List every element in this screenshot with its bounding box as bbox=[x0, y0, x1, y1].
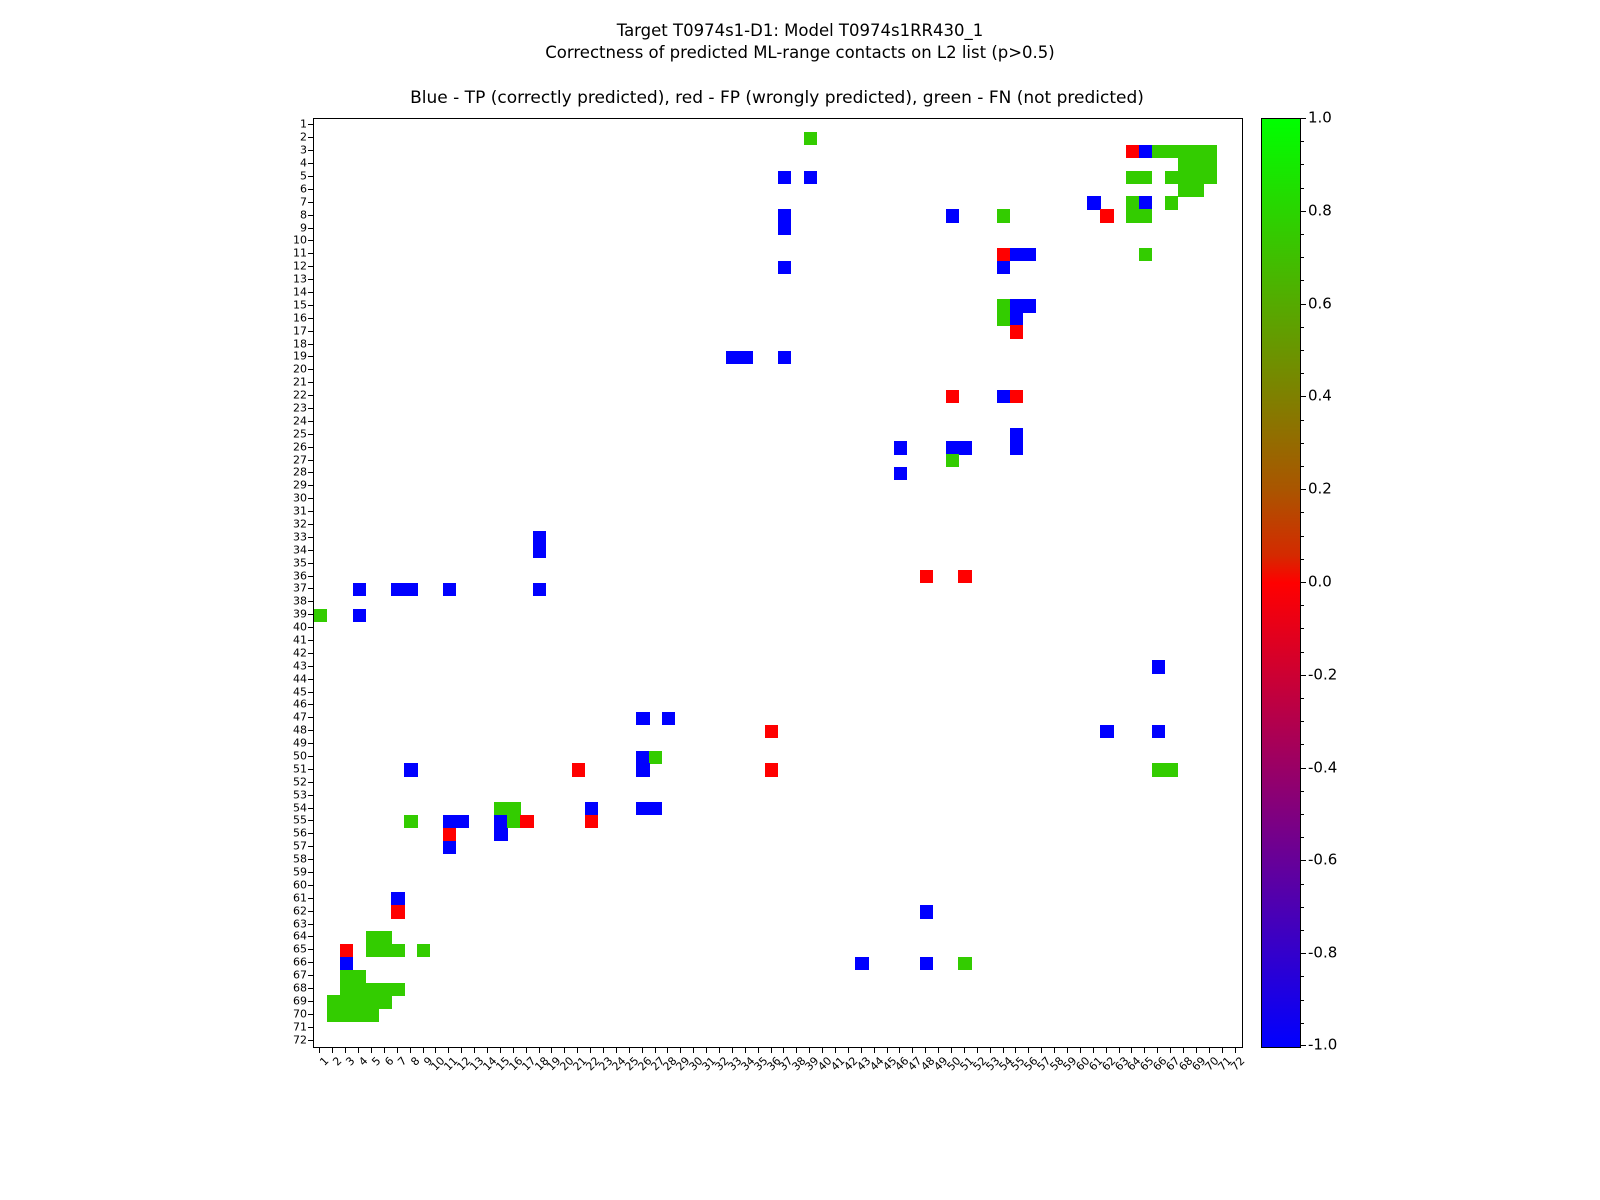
colorbar-tick-label: -0.6 bbox=[1308, 853, 1337, 868]
contact-cell-fn bbox=[340, 970, 353, 983]
contact-cell-tp bbox=[946, 441, 959, 454]
colorbar-minor-tick bbox=[1300, 489, 1304, 490]
contact-cell-fn bbox=[340, 983, 353, 996]
colorbar-minor-tick bbox=[1300, 628, 1304, 629]
contact-cell-tp bbox=[946, 209, 959, 222]
contact-cell-fn bbox=[958, 957, 971, 970]
contact-cell-tp bbox=[997, 261, 1010, 274]
x-tick-mark bbox=[990, 1047, 991, 1053]
contact-cell-tp bbox=[533, 544, 546, 557]
contact-cell-fn bbox=[378, 931, 391, 944]
x-tick-mark bbox=[513, 1047, 514, 1053]
x-tick-mark bbox=[745, 1047, 746, 1053]
x-tick-mark bbox=[461, 1047, 462, 1053]
contact-cell-fn bbox=[997, 209, 1010, 222]
y-tick-label: 34 bbox=[275, 544, 307, 555]
contact-cell-fp bbox=[997, 248, 1010, 261]
y-tick-label: 13 bbox=[275, 274, 307, 285]
contact-cell-fn bbox=[1178, 145, 1191, 158]
y-tick-label: 19 bbox=[275, 351, 307, 362]
x-tick-mark bbox=[564, 1047, 565, 1053]
x-tick-mark bbox=[642, 1047, 643, 1053]
contact-cell-tp bbox=[456, 815, 469, 828]
y-tick-label: 6 bbox=[275, 183, 307, 194]
x-tick-mark bbox=[835, 1047, 836, 1053]
contact-cell-tp bbox=[649, 802, 662, 815]
x-tick-mark bbox=[1067, 1047, 1068, 1053]
contact-cell-fn bbox=[1139, 248, 1152, 261]
x-tick-mark bbox=[809, 1047, 810, 1053]
x-tick-mark bbox=[680, 1047, 681, 1053]
colorbar-minor-tick bbox=[1300, 652, 1304, 653]
x-tick-mark bbox=[319, 1047, 320, 1053]
contact-cell-fn bbox=[366, 931, 379, 944]
contact-cell-tp bbox=[443, 841, 456, 854]
y-tick-label: 49 bbox=[275, 738, 307, 749]
contact-cell-tp bbox=[726, 351, 739, 364]
x-tick-mark bbox=[719, 1047, 720, 1053]
y-tick-label: 5 bbox=[275, 171, 307, 182]
contact-cell-fn bbox=[391, 983, 404, 996]
contact-cell-fn bbox=[1203, 171, 1216, 184]
colorbar-minor-tick bbox=[1300, 373, 1304, 374]
colorbar-tick-labels: 1.00.80.60.40.20.0-0.2-0.4-0.6-0.8-1.0 bbox=[1308, 118, 1388, 1046]
y-tick-label: 31 bbox=[275, 506, 307, 517]
contact-cell-fp bbox=[443, 828, 456, 841]
x-tick-mark bbox=[603, 1047, 604, 1053]
x-tick-mark bbox=[874, 1047, 875, 1053]
contact-cell-fn bbox=[946, 454, 959, 467]
x-tick-mark bbox=[887, 1047, 888, 1053]
colorbar-minor-tick bbox=[1300, 907, 1304, 908]
contact-cell-fn bbox=[366, 983, 379, 996]
contact-cell-fp bbox=[340, 944, 353, 957]
y-tick-label: 39 bbox=[275, 609, 307, 620]
contact-cell-fn bbox=[1139, 171, 1152, 184]
contact-cell-tp bbox=[636, 712, 649, 725]
contact-cell-tp bbox=[340, 957, 353, 970]
colorbar-minor-tick bbox=[1300, 257, 1304, 258]
contact-cell-fn bbox=[353, 983, 366, 996]
colorbar-tick-label: -0.2 bbox=[1308, 667, 1337, 682]
y-tick-label: 43 bbox=[275, 660, 307, 671]
y-tick-label: 42 bbox=[275, 647, 307, 658]
x-tick-mark bbox=[861, 1047, 862, 1053]
y-tick-label: 45 bbox=[275, 686, 307, 697]
x-tick-mark bbox=[1157, 1047, 1158, 1053]
y-tick-label: 71 bbox=[275, 1021, 307, 1032]
colorbar-minor-tick bbox=[1300, 188, 1304, 189]
contact-cell-fn bbox=[378, 944, 391, 957]
contact-map-plot[interactable] bbox=[313, 118, 1243, 1048]
y-tick-label: 50 bbox=[275, 751, 307, 762]
colorbar-minor-tick bbox=[1300, 860, 1304, 861]
colorbar-ticks bbox=[1300, 118, 1306, 1046]
y-tick-label: 18 bbox=[275, 338, 307, 349]
x-tick-mark bbox=[371, 1047, 372, 1053]
x-tick-mark bbox=[951, 1047, 952, 1053]
contact-cell-fp bbox=[920, 570, 933, 583]
x-tick-mark bbox=[1015, 1047, 1016, 1053]
y-tick-label: 38 bbox=[275, 596, 307, 607]
contact-cell-fn bbox=[1152, 763, 1165, 776]
colorbar-minor-tick bbox=[1300, 698, 1304, 699]
colorbar-tick-label: 0.6 bbox=[1308, 296, 1332, 311]
contact-cell-fn bbox=[378, 995, 391, 1008]
colorbar-minor-tick bbox=[1300, 605, 1304, 606]
colorbar-minor-tick bbox=[1300, 211, 1304, 212]
colorbar-minor-tick bbox=[1300, 768, 1304, 769]
contact-cell-fn bbox=[1203, 158, 1216, 171]
colorbar-tick-label: 0.0 bbox=[1308, 575, 1332, 590]
y-tick-label: 11 bbox=[275, 248, 307, 259]
contact-cell-tp bbox=[494, 815, 507, 828]
y-tick-label: 60 bbox=[275, 879, 307, 890]
contact-cell-tp bbox=[443, 583, 456, 596]
y-tick-label: 44 bbox=[275, 673, 307, 684]
y-tick-label: 40 bbox=[275, 622, 307, 633]
contact-cell-fn bbox=[1178, 183, 1191, 196]
contact-cell-fn bbox=[1190, 171, 1203, 184]
x-tick-mark bbox=[435, 1047, 436, 1053]
colorbar-minor-tick bbox=[1300, 304, 1304, 305]
x-tick-mark bbox=[1119, 1047, 1120, 1053]
contact-cell-fn bbox=[649, 751, 662, 764]
contact-cell-fn bbox=[417, 944, 430, 957]
x-tick-mark bbox=[1183, 1047, 1184, 1053]
contact-cell-fp bbox=[946, 390, 959, 403]
x-tick-mark bbox=[384, 1047, 385, 1053]
y-tick-label: 48 bbox=[275, 725, 307, 736]
contact-cell-fn bbox=[1152, 145, 1165, 158]
y-tick-label: 62 bbox=[275, 905, 307, 916]
contact-cell-tp bbox=[920, 957, 933, 970]
x-tick-mark bbox=[796, 1047, 797, 1053]
contact-cell-fn bbox=[378, 983, 391, 996]
y-tick-label: 29 bbox=[275, 480, 307, 491]
y-tick-label: 2 bbox=[275, 132, 307, 143]
contact-cell-tp bbox=[1139, 196, 1152, 209]
colorbar-minor-tick bbox=[1300, 744, 1304, 745]
contact-cell-fn bbox=[1190, 145, 1203, 158]
x-tick-mark bbox=[693, 1047, 694, 1053]
x-tick-mark bbox=[912, 1047, 913, 1053]
contact-cell-tp bbox=[1010, 248, 1023, 261]
contact-cell-fn bbox=[353, 995, 366, 1008]
y-tick-label: 25 bbox=[275, 428, 307, 439]
colorbar-tick-label: -0.8 bbox=[1308, 946, 1337, 961]
y-tick-label: 63 bbox=[275, 918, 307, 929]
figure-title-line1: Target T0974s1-D1: Model T0974s1RR430_1 bbox=[617, 21, 984, 40]
contact-cell-tp bbox=[855, 957, 868, 970]
contact-cell-fp bbox=[765, 725, 778, 738]
contact-cell-fn bbox=[327, 1008, 340, 1021]
contact-cell-fn bbox=[1165, 171, 1178, 184]
y-tick-label: 35 bbox=[275, 557, 307, 568]
y-tick-label: 55 bbox=[275, 815, 307, 826]
contact-cell-tp bbox=[391, 583, 404, 596]
contact-cell-tp bbox=[894, 441, 907, 454]
x-tick-mark bbox=[423, 1047, 424, 1053]
colorbar-tick-label: 0.8 bbox=[1308, 203, 1332, 218]
contact-cell-tp bbox=[636, 763, 649, 776]
colorbar-minor-tick bbox=[1300, 953, 1304, 954]
x-tick-mark bbox=[590, 1047, 591, 1053]
y-tick-label: 17 bbox=[275, 325, 307, 336]
contact-cell-fn bbox=[366, 1008, 379, 1021]
x-tick-mark bbox=[925, 1047, 926, 1053]
y-tick-label: 72 bbox=[275, 1034, 307, 1045]
x-tick-mark bbox=[1209, 1047, 1210, 1053]
x-tick-mark bbox=[848, 1047, 849, 1053]
x-tick-mark bbox=[526, 1047, 527, 1053]
x-tick-mark bbox=[899, 1047, 900, 1053]
contact-cell-tp bbox=[778, 209, 791, 222]
contact-cell-fn bbox=[997, 299, 1010, 312]
y-tick-label: 3 bbox=[275, 145, 307, 156]
x-tick-mark bbox=[822, 1047, 823, 1053]
colorbar-tick-label: -1.0 bbox=[1308, 1038, 1337, 1053]
y-tick-label: 47 bbox=[275, 712, 307, 723]
x-tick-mark bbox=[577, 1047, 578, 1053]
contact-cell-tp bbox=[1010, 441, 1023, 454]
contact-cell-tp bbox=[585, 802, 598, 815]
colorbar-tick-label: -0.4 bbox=[1308, 760, 1337, 775]
contact-cell-tp bbox=[778, 351, 791, 364]
figure-title-line2: Correctness of predicted ML-range contac… bbox=[545, 43, 1054, 62]
contact-cell-fn bbox=[1190, 183, 1203, 196]
x-tick-mark bbox=[448, 1047, 449, 1053]
x-tick-mark bbox=[397, 1047, 398, 1053]
x-tick-mark bbox=[964, 1047, 965, 1053]
contact-cell-fp bbox=[958, 570, 971, 583]
contact-cell-layer bbox=[314, 119, 1242, 1047]
y-tick-label: 56 bbox=[275, 828, 307, 839]
colorbar-minor-tick bbox=[1300, 420, 1304, 421]
contact-cell-fn bbox=[340, 1008, 353, 1021]
x-tick-mark bbox=[732, 1047, 733, 1053]
x-tick-mark bbox=[539, 1047, 540, 1053]
contact-cell-tp bbox=[778, 261, 791, 274]
contact-cell-fn bbox=[1165, 145, 1178, 158]
colorbar-minor-tick bbox=[1300, 280, 1304, 281]
contact-cell-tp bbox=[1152, 725, 1165, 738]
y-tick-label: 61 bbox=[275, 892, 307, 903]
x-tick-mark bbox=[706, 1047, 707, 1053]
x-tick-mark bbox=[1054, 1047, 1055, 1053]
contact-cell-fp bbox=[585, 815, 598, 828]
x-tick-mark bbox=[1131, 1047, 1132, 1053]
contact-cell-fp bbox=[1010, 390, 1023, 403]
y-tick-label: 16 bbox=[275, 312, 307, 323]
x-tick-mark bbox=[758, 1047, 759, 1053]
x-tick-mark bbox=[1080, 1047, 1081, 1053]
y-tick-label: 65 bbox=[275, 944, 307, 955]
contact-cell-fn bbox=[507, 815, 520, 828]
colorbar-gradient bbox=[1261, 118, 1301, 1048]
y-tick-label: 30 bbox=[275, 493, 307, 504]
colorbar-minor-tick bbox=[1300, 396, 1304, 397]
y-tick-label: 10 bbox=[275, 235, 307, 246]
contact-cell-tp bbox=[997, 390, 1010, 403]
contact-cell-fn bbox=[804, 132, 817, 145]
y-tick-label: 32 bbox=[275, 519, 307, 530]
contact-cell-fp bbox=[572, 763, 585, 776]
x-tick-mark bbox=[551, 1047, 552, 1053]
x-tick-mark bbox=[1003, 1047, 1004, 1053]
contact-cell-fn bbox=[1139, 209, 1152, 222]
y-tick-label: 46 bbox=[275, 699, 307, 710]
contact-cell-fp bbox=[765, 763, 778, 776]
contact-cell-fp bbox=[1126, 145, 1139, 158]
contact-cell-tp bbox=[920, 905, 933, 918]
x-tick-mark bbox=[1028, 1047, 1029, 1053]
contact-cell-fp bbox=[520, 815, 533, 828]
y-tick-label: 7 bbox=[275, 196, 307, 207]
contact-cell-tp bbox=[1139, 145, 1152, 158]
contact-cell-fn bbox=[1203, 145, 1216, 158]
y-tick-label: 36 bbox=[275, 570, 307, 581]
contact-cell-tp bbox=[391, 892, 404, 905]
colorbar-minor-tick bbox=[1300, 837, 1304, 838]
y-tick-label: 67 bbox=[275, 970, 307, 981]
contact-cell-fn bbox=[404, 815, 417, 828]
contact-cell-tp bbox=[1152, 660, 1165, 673]
x-axis-tick-labels: 1234567891011121314151617181920212223242… bbox=[313, 1055, 1241, 1115]
y-tick-label: 21 bbox=[275, 377, 307, 388]
colorbar-minor-tick bbox=[1300, 118, 1304, 119]
colorbar-tick-label: 0.4 bbox=[1308, 389, 1332, 404]
contact-cell-fn bbox=[1126, 196, 1139, 209]
y-tick-label: 66 bbox=[275, 957, 307, 968]
y-tick-label: 59 bbox=[275, 867, 307, 878]
colorbar-tick-label: 0.2 bbox=[1308, 482, 1332, 497]
colorbar-minor-tick bbox=[1300, 512, 1304, 513]
contact-cell-fp bbox=[1010, 325, 1023, 338]
x-tick-mark bbox=[1170, 1047, 1171, 1053]
y-tick-label: 14 bbox=[275, 287, 307, 298]
contact-cell-tp bbox=[404, 583, 417, 596]
x-tick-mark bbox=[474, 1047, 475, 1053]
x-tick-mark bbox=[1222, 1047, 1223, 1053]
contact-cell-tp bbox=[533, 531, 546, 544]
contact-cell-fn bbox=[1178, 171, 1191, 184]
contact-cell-tp bbox=[778, 171, 791, 184]
colorbar-minor-tick bbox=[1300, 582, 1304, 583]
contact-cell-fp bbox=[1100, 209, 1113, 222]
x-tick-mark bbox=[345, 1047, 346, 1053]
contact-cell-fn bbox=[353, 1008, 366, 1021]
contact-cell-tp bbox=[494, 828, 507, 841]
contact-cell-tp bbox=[778, 222, 791, 235]
colorbar-minor-tick bbox=[1300, 791, 1304, 792]
y-tick-label: 8 bbox=[275, 209, 307, 220]
x-tick-mark bbox=[410, 1047, 411, 1053]
contact-cell-fn bbox=[1165, 763, 1178, 776]
contact-cell-fn bbox=[366, 995, 379, 1008]
colorbar-minor-tick bbox=[1300, 1045, 1304, 1046]
y-tick-label: 22 bbox=[275, 390, 307, 401]
contact-cell-tp bbox=[1010, 428, 1023, 441]
contact-cell-fn bbox=[327, 995, 340, 1008]
contact-cell-fn bbox=[314, 609, 327, 622]
x-axis-ticks bbox=[313, 1047, 1241, 1053]
contact-cell-tp bbox=[1010, 299, 1023, 312]
x-tick-mark bbox=[977, 1047, 978, 1053]
contact-cell-fn bbox=[1126, 171, 1139, 184]
x-tick-mark bbox=[783, 1047, 784, 1053]
y-tick-label: 27 bbox=[275, 454, 307, 465]
contact-cell-fn bbox=[340, 995, 353, 1008]
x-tick-mark bbox=[500, 1047, 501, 1053]
x-tick-mark bbox=[358, 1047, 359, 1053]
contact-cell-tp bbox=[894, 467, 907, 480]
y-tick-label: 69 bbox=[275, 995, 307, 1006]
y-tick-label: 9 bbox=[275, 222, 307, 233]
x-tick-mark bbox=[771, 1047, 772, 1053]
contact-cell-tp bbox=[353, 583, 366, 596]
colorbar-minor-tick bbox=[1300, 141, 1304, 142]
y-tick-label: 12 bbox=[275, 261, 307, 272]
contact-cell-tp bbox=[804, 171, 817, 184]
y-tick-label: 53 bbox=[275, 789, 307, 800]
contact-cell-tp bbox=[662, 712, 675, 725]
y-tick-label: 15 bbox=[275, 299, 307, 310]
contact-cell-fn bbox=[353, 970, 366, 983]
contact-cell-fn bbox=[391, 944, 404, 957]
y-tick-label: 51 bbox=[275, 763, 307, 774]
contact-cell-fn bbox=[366, 944, 379, 957]
y-tick-label: 52 bbox=[275, 776, 307, 787]
contact-cell-tp bbox=[443, 815, 456, 828]
y-tick-label: 20 bbox=[275, 364, 307, 375]
axes-title: Blue - TP (correctly predicted), red - F… bbox=[313, 88, 1241, 108]
colorbar-minor-tick bbox=[1300, 164, 1304, 165]
contact-cell-tp bbox=[636, 802, 649, 815]
y-tick-label: 28 bbox=[275, 467, 307, 478]
contact-cell-tp bbox=[958, 441, 971, 454]
colorbar-minor-tick bbox=[1300, 350, 1304, 351]
y-tick-label: 58 bbox=[275, 854, 307, 865]
x-tick-mark bbox=[1041, 1047, 1042, 1053]
x-tick-mark bbox=[1106, 1047, 1107, 1053]
colorbar-minor-tick bbox=[1300, 1000, 1304, 1001]
y-tick-label: 41 bbox=[275, 635, 307, 646]
x-tick-mark bbox=[332, 1047, 333, 1053]
y-tick-label: 1 bbox=[275, 119, 307, 130]
contact-cell-fp bbox=[391, 905, 404, 918]
contact-cell-tp bbox=[1087, 196, 1100, 209]
x-tick-mark bbox=[655, 1047, 656, 1053]
contact-cell-fn bbox=[1190, 158, 1203, 171]
colorbar-minor-tick bbox=[1300, 443, 1304, 444]
contact-cell-tp bbox=[1010, 312, 1023, 325]
y-tick-label: 23 bbox=[275, 403, 307, 414]
contact-cell-fn bbox=[997, 312, 1010, 325]
contact-cell-tp bbox=[533, 583, 546, 596]
contact-cell-tp bbox=[404, 763, 417, 776]
contact-cell-fn bbox=[494, 802, 507, 815]
y-tick-label: 68 bbox=[275, 983, 307, 994]
x-tick-mark bbox=[1144, 1047, 1145, 1053]
contact-cell-tp bbox=[1023, 299, 1036, 312]
colorbar-minor-tick bbox=[1300, 536, 1304, 537]
colorbar-minor-tick bbox=[1300, 814, 1304, 815]
y-tick-label: 24 bbox=[275, 415, 307, 426]
y-tick-label: 64 bbox=[275, 931, 307, 942]
figure-title: Target T0974s1-D1: Model T0974s1RR430_1C… bbox=[0, 20, 1600, 64]
y-tick-label: 54 bbox=[275, 802, 307, 813]
